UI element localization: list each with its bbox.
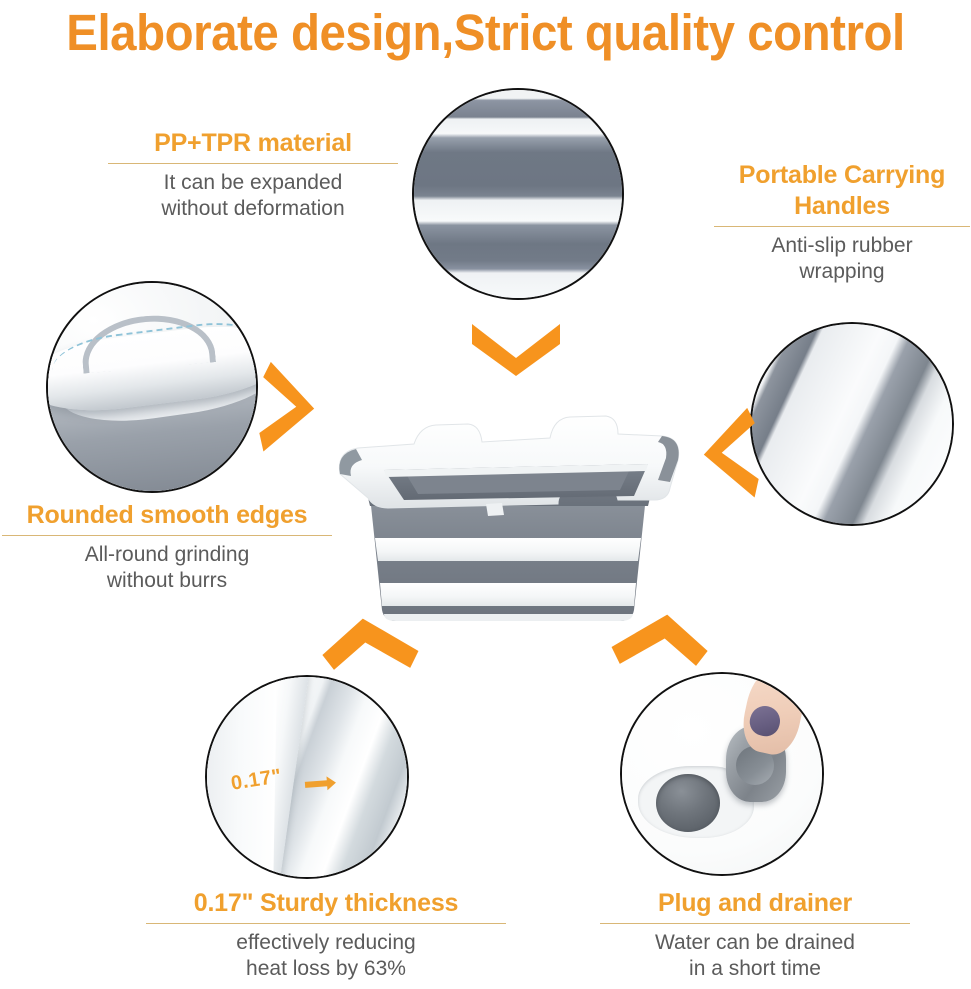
feature-plug-description: Water can be drained in a short time [600,930,910,982]
material-stripes-image [414,90,622,298]
feature-edges-description: All-round grinding without burrs [2,542,332,594]
feature-thickness-divider [146,923,506,924]
feature-handles-heading: Portable Carrying Handles [714,160,970,222]
chevron-down-icon [466,318,566,376]
feature-plug-divider [600,923,910,924]
chevron-left-icon [698,404,760,506]
feature-plug: Plug and drainer Water can be drained in… [600,888,910,982]
feature-handles-description: Anti-slip rubber wrapping [714,233,970,285]
photo-rounded-edge [46,281,258,493]
feature-thickness-heading: 0.17" Sturdy thickness [146,888,506,919]
drain-hole-shape [656,774,720,832]
feature-material-heading: PP+TPR material [108,128,398,159]
feature-thickness-description: effectively reducing heat loss by 63% [146,930,506,982]
wall-thickness-image: 0.17" [207,677,407,877]
photo-drain-plug [620,672,824,876]
rounded-edge-image [48,283,256,491]
product-image-collapsible-basket [318,378,698,630]
feature-edges-heading: Rounded smooth edges [2,500,332,531]
feature-edges: Rounded smooth edges All-round grinding … [2,500,332,594]
photo-carrying-handle [750,322,954,526]
feature-edges-divider [2,535,332,536]
feature-material-description: It can be expanded without deformation [108,170,398,222]
feature-material-divider [108,163,398,164]
feature-handles: Portable Carrying Handles Anti-slip rubb… [714,160,970,285]
photo-material-stripes [412,88,624,300]
chevron-right-icon [258,358,320,460]
carrying-handle-image [752,324,952,524]
page-title: Elaborate design,Strict quality control [34,4,937,62]
feature-material: PP+TPR material It can be expanded witho… [108,128,398,222]
feature-handles-divider [714,226,970,227]
infographic-canvas: Elaborate design,Strict quality control … [0,0,971,989]
chevron-up-icon [318,614,422,684]
chevron-up-icon [608,610,712,680]
drain-plug-image [622,674,822,874]
feature-thickness: 0.17" Sturdy thickness effectively reduc… [146,888,506,982]
photo-wall-thickness: 0.17" [205,675,409,879]
feature-plug-heading: Plug and drainer [600,888,910,919]
